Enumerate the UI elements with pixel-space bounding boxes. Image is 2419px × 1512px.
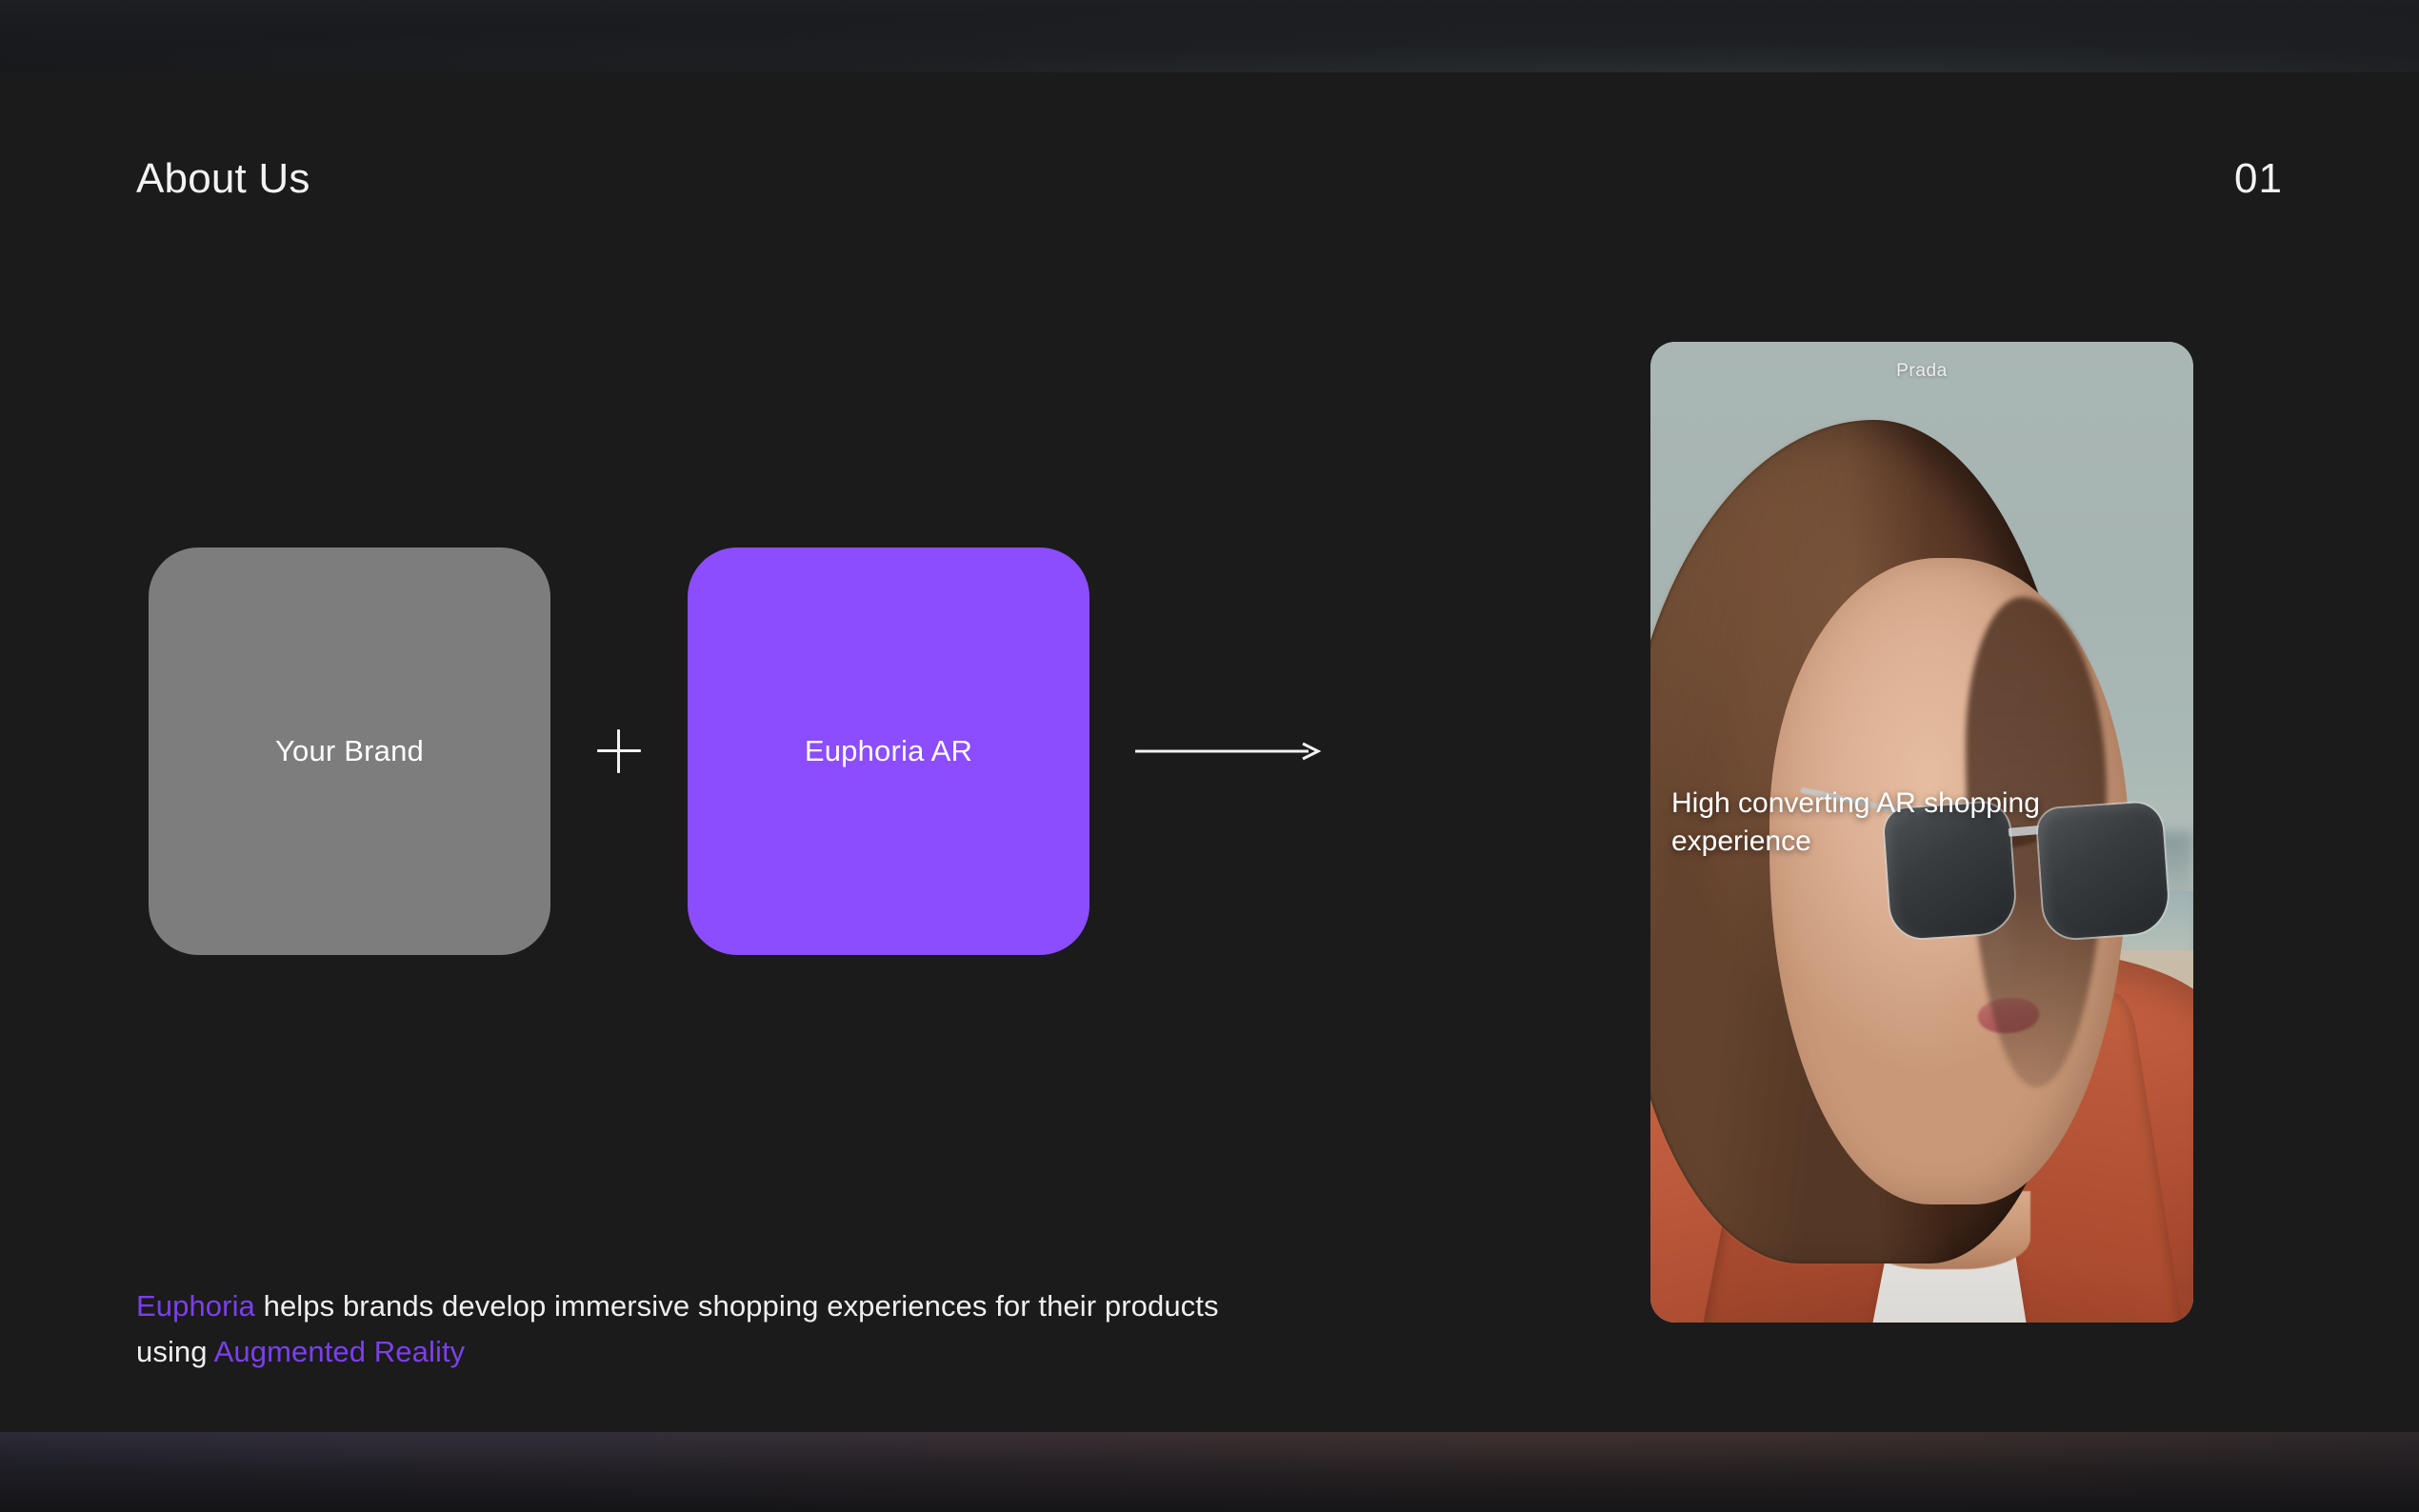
slide-canvas: About Us 01 Your Brand Euphoria AR Eupho… <box>0 72 2419 1432</box>
bottom-edge-bar <box>0 1432 2419 1512</box>
page-title: About Us <box>136 158 310 200</box>
ar-product-preview-card[interactable]: Prada High converting AR shopping experi… <box>1650 342 2193 1323</box>
euphoria-ar-label: Euphoria AR <box>805 734 972 768</box>
your-brand-label: Your Brand <box>275 734 424 768</box>
description-accent-tail: Augmented Reality <box>214 1335 466 1368</box>
right-arrow-icon <box>1090 732 1366 770</box>
euphoria-ar-card[interactable]: Euphoria AR <box>688 547 1090 955</box>
top-edge-bar <box>0 0 2419 72</box>
slide-header: About Us 01 <box>136 158 2283 200</box>
product-brand-tag: Prada <box>1650 361 2193 382</box>
description-paragraph: Euphoria helps brands develop immersive … <box>136 1283 1260 1375</box>
description-accent-lead: Euphoria <box>136 1289 255 1323</box>
plus-icon <box>550 723 688 780</box>
your-brand-card[interactable]: Your Brand <box>149 547 550 955</box>
page-number: 01 <box>2234 158 2283 200</box>
presentation-screen: About Us 01 Your Brand Euphoria AR Eupho… <box>0 0 2419 1512</box>
brand-equation-row: Your Brand Euphoria AR <box>149 547 1366 955</box>
product-preview-caption: High converting AR shopping experience <box>1650 785 2193 861</box>
